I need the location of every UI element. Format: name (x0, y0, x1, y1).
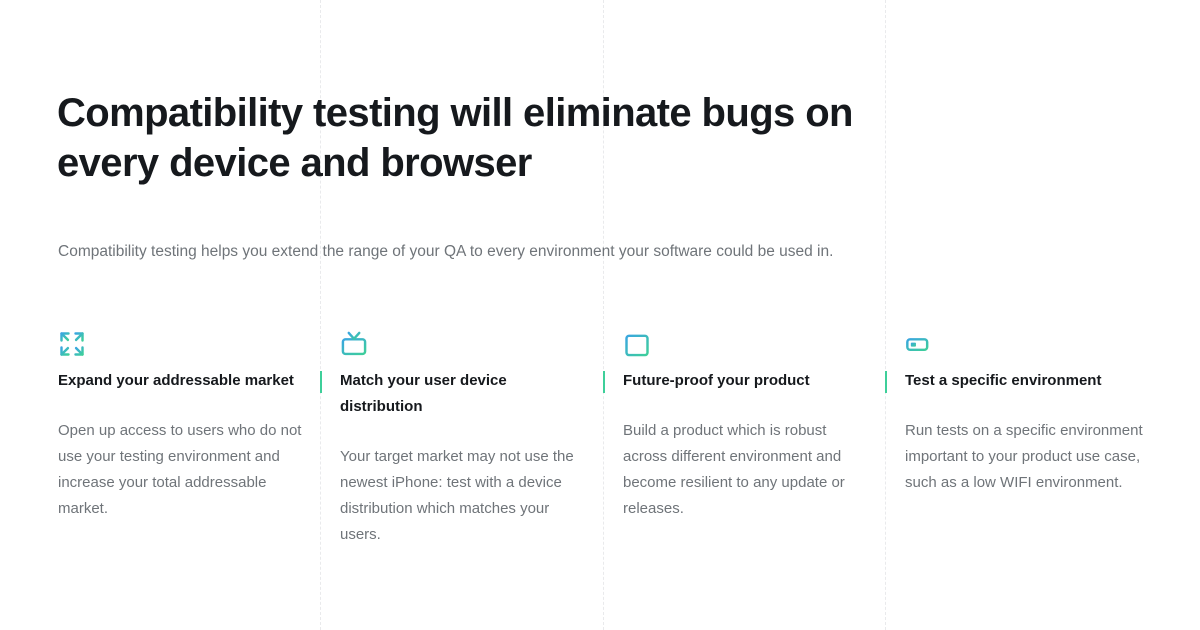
page-canvas: Compatibility testing will eliminate bug… (0, 0, 1200, 630)
feature-column-1: Expand your addressable market Open up a… (58, 330, 308, 522)
page-subtitle: Compatibility testing helps you extend t… (58, 238, 868, 265)
feature-heading-2: Match your user device distribution (340, 368, 588, 420)
feature-column-2: Match your user device distribution Your… (340, 330, 588, 548)
feature-heading-1: Expand your addressable market (58, 368, 308, 394)
feature-heading-4-text: Test a specific environment (905, 372, 1101, 389)
feature-columns: Expand your addressable market Open up a… (0, 330, 1200, 630)
accent-bar-2 (320, 371, 322, 393)
feature-column-3: Future-proof your product Build a produc… (623, 330, 868, 522)
feature-heading-4: Test a specific environment (905, 368, 1153, 394)
feature-body-4: Run tests on a specific environment impo… (905, 418, 1153, 496)
feature-heading-3: Future-proof your product (623, 368, 868, 394)
feature-heading-3-text: Future-proof your product (623, 372, 810, 389)
feature-column-4: Test a specific environment Run tests on… (905, 330, 1153, 496)
feature-body-1: Open up access to users who do not use y… (58, 418, 308, 522)
battery-low-icon (905, 330, 1153, 364)
expand-arrows-icon (58, 330, 308, 364)
television-icon (340, 330, 588, 364)
calendar-icon (623, 330, 868, 364)
feature-heading-1-text: Expand your addressable market (58, 372, 294, 389)
feature-body-3: Build a product which is robust across d… (623, 418, 868, 522)
accent-bar-4 (885, 371, 887, 393)
accent-bar-3 (603, 371, 605, 393)
feature-heading-2-text: Match your user device distribution (340, 372, 507, 415)
page-title: Compatibility testing will eliminate bug… (57, 88, 857, 188)
feature-body-2: Your target market may not use the newes… (340, 444, 588, 548)
